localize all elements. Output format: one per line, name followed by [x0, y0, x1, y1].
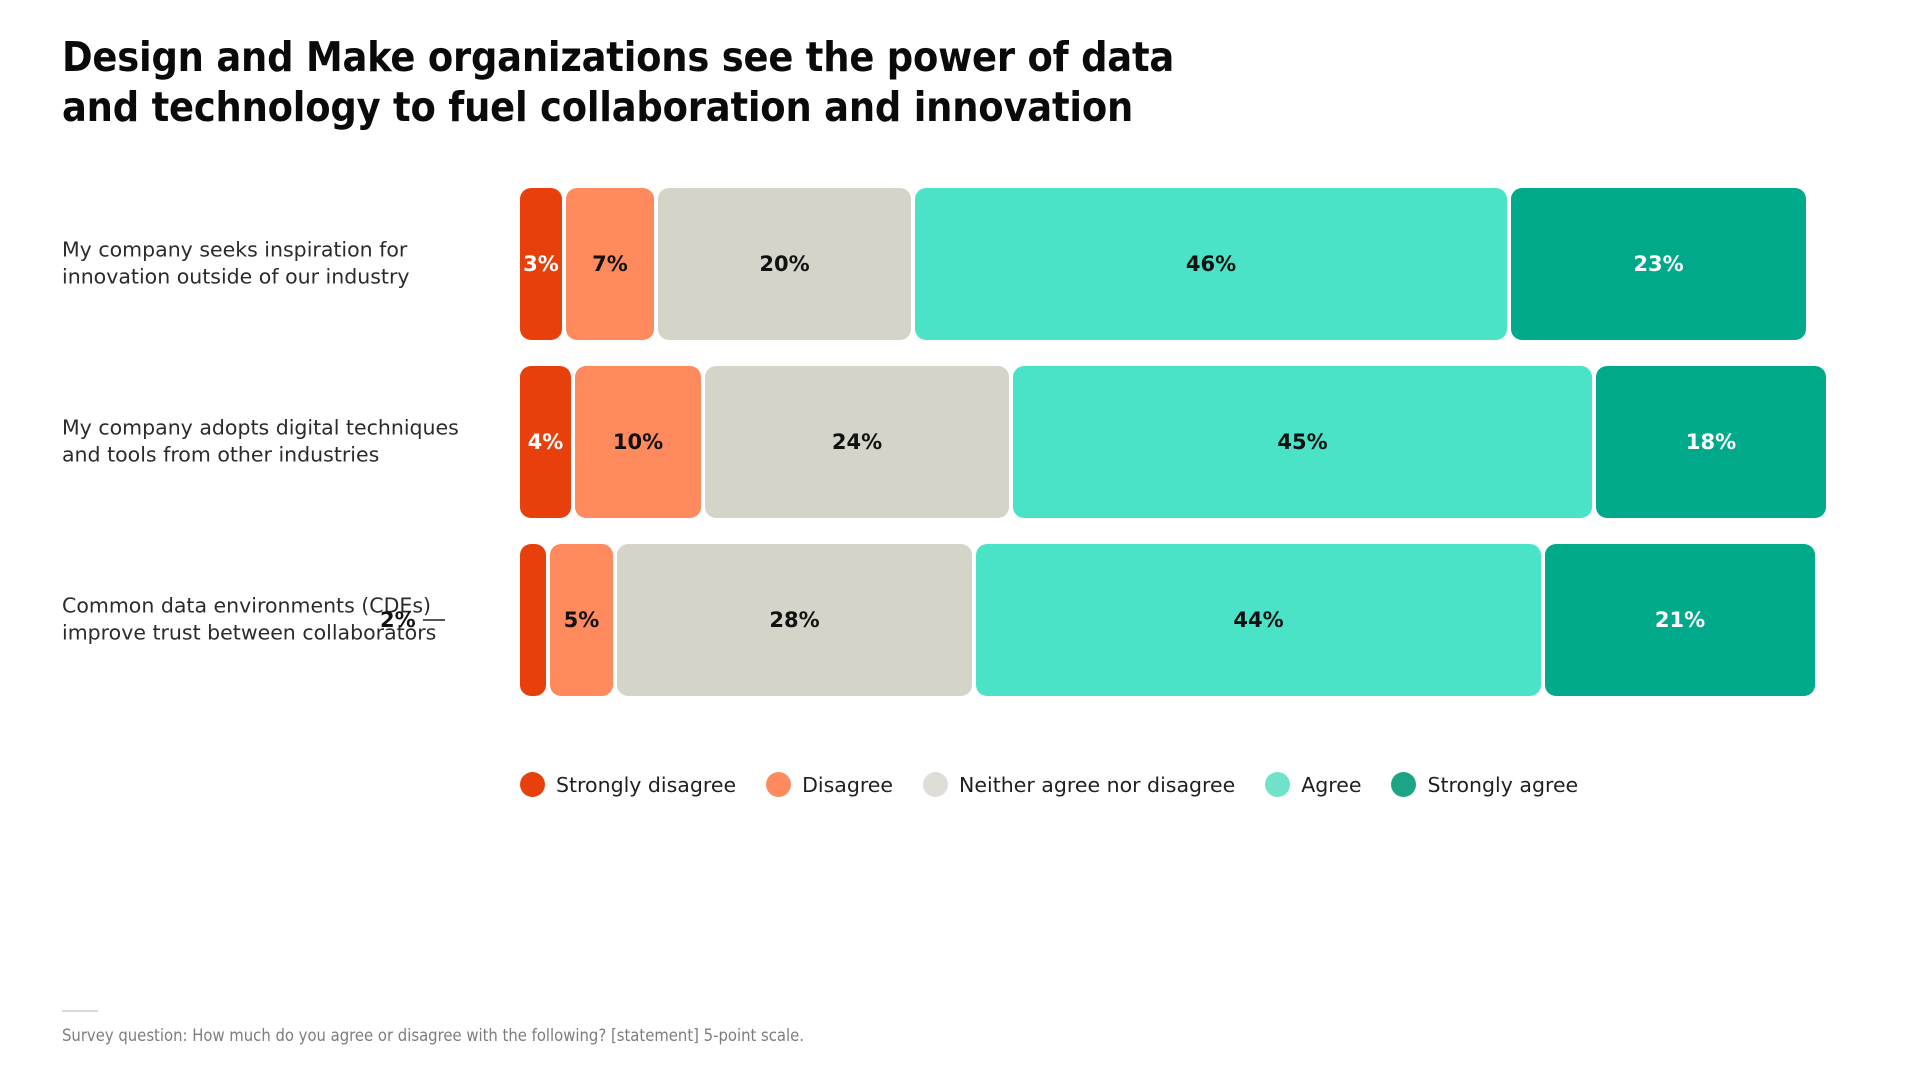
leader-line [423, 619, 445, 621]
legend-label: Disagree [802, 773, 893, 797]
bar-segment-strongly-disagree[interactable]: 3% [520, 188, 562, 340]
chart-row: My company adopts digital techniques and… [0, 366, 1920, 518]
legend-item-neither[interactable]: Neither agree nor disagree [923, 772, 1235, 797]
chart-row: Common data environments (CDEs) improve … [0, 544, 1920, 696]
legend-item-strongly-agree[interactable]: Strongly agree [1391, 772, 1578, 797]
legend-item-strongly-disagree[interactable]: Strongly disagree [520, 772, 736, 797]
bar-segment-strongly-agree[interactable]: 21% [1545, 544, 1815, 696]
legend-swatch-icon [1265, 772, 1290, 797]
bar-segment-agree[interactable]: 45% [1013, 366, 1592, 518]
bar-segment-strongly-agree[interactable]: 23% [1511, 188, 1806, 340]
chart-row: My company seeks inspiration for innovat… [0, 188, 1920, 340]
chart-legend: Strongly disagree Disagree Neither agree… [520, 772, 1608, 797]
footnote-divider [62, 1010, 98, 1012]
page-title: Design and Make organizations see the po… [62, 32, 1362, 133]
legend-swatch-icon [1391, 772, 1416, 797]
bar-segment-agree[interactable]: 46% [915, 188, 1507, 340]
bar-segment-neither[interactable]: 24% [705, 366, 1009, 518]
row-bars: 2% 2% 5% 28% 44% 21% [520, 544, 1806, 696]
legend-swatch-icon [520, 772, 545, 797]
stacked-bar-chart: My company seeks inspiration for innovat… [0, 170, 1920, 700]
legend-label: Neither agree nor disagree [959, 773, 1235, 797]
bar-segment-neither[interactable]: 28% [617, 544, 972, 696]
row-label: My company seeks inspiration for innovat… [62, 237, 462, 292]
row-bars: 3% 7% 20% 46% 23% [520, 188, 1806, 340]
row-label: My company adopts digital techniques and… [62, 415, 462, 470]
bar-segment-strongly-disagree[interactable]: 4% [520, 366, 571, 518]
legend-item-disagree[interactable]: Disagree [766, 772, 893, 797]
legend-swatch-icon [766, 772, 791, 797]
bar-segment-disagree[interactable]: 10% [575, 366, 701, 518]
bar-segment-strongly-agree[interactable]: 18% [1596, 366, 1826, 518]
footnote-text: Survey question: How much do you agree o… [62, 1026, 804, 1045]
legend-item-agree[interactable]: Agree [1265, 772, 1361, 797]
external-value-label: 2% [380, 608, 416, 632]
legend-label: Strongly agree [1427, 773, 1578, 797]
legend-swatch-icon [923, 772, 948, 797]
bar-segment-agree[interactable]: 44% [976, 544, 1541, 696]
bar-segment-disagree[interactable]: 5% [550, 544, 613, 696]
legend-label: Strongly disagree [556, 773, 736, 797]
external-value-callout: 2% [380, 608, 445, 632]
legend-label: Agree [1301, 773, 1361, 797]
bar-segment-neither[interactable]: 20% [658, 188, 911, 340]
bar-segment-disagree[interactable]: 7% [566, 188, 654, 340]
row-bars: 4% 10% 24% 45% 18% [520, 366, 1806, 518]
bar-segment-strongly-disagree[interactable]: 2% [520, 544, 546, 696]
